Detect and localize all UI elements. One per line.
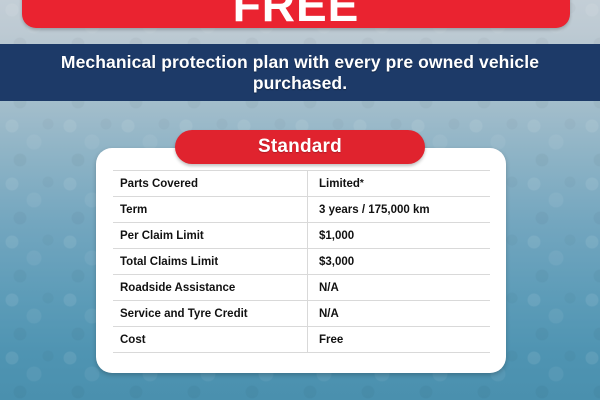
table-row: Term3 years / 175,000 km [113, 197, 490, 223]
table-row: Service and Tyre CreditN/A [113, 301, 490, 327]
table-row: Parts CoveredLimited* [113, 171, 490, 197]
feature-cell: Term [113, 197, 308, 223]
value-cell: $3,000 [308, 249, 491, 275]
subtitle-band: Mechanical protection plan with every pr… [0, 44, 600, 101]
value-cell: N/A [308, 275, 491, 301]
feature-cell: Service and Tyre Credit [113, 301, 308, 327]
plan-tab-standard[interactable]: Standard [175, 130, 425, 164]
promo-graphic: FREE Mechanical protection plan with eve… [0, 0, 600, 400]
footnote-marker: * [360, 178, 364, 189]
table-row: Total Claims Limit$3,000 [113, 249, 490, 275]
banner-headline: FREE [22, 0, 570, 28]
plan-table-body: Parts CoveredLimited*Term3 years / 175,0… [113, 171, 490, 353]
value-cell: N/A [308, 301, 491, 327]
feature-cell: Roadside Assistance [113, 275, 308, 301]
value-cell: Free [308, 327, 491, 353]
feature-cell: Total Claims Limit [113, 249, 308, 275]
feature-cell: Parts Covered [113, 171, 308, 197]
value-cell: $1,000 [308, 223, 491, 249]
plan-comparison-table: Parts CoveredLimited*Term3 years / 175,0… [113, 170, 490, 353]
value-cell: 3 years / 175,000 km [308, 197, 491, 223]
table-row: Roadside AssistanceN/A [113, 275, 490, 301]
free-banner: FREE [22, 0, 570, 28]
plan-tab-label: Standard [258, 136, 342, 158]
subtitle-text: Mechanical protection plan with every pr… [0, 52, 600, 94]
feature-cell: Per Claim Limit [113, 223, 308, 249]
feature-cell: Cost [113, 327, 308, 353]
table-row: Per Claim Limit$1,000 [113, 223, 490, 249]
value-cell: Limited* [308, 171, 491, 197]
table-row: CostFree [113, 327, 490, 353]
